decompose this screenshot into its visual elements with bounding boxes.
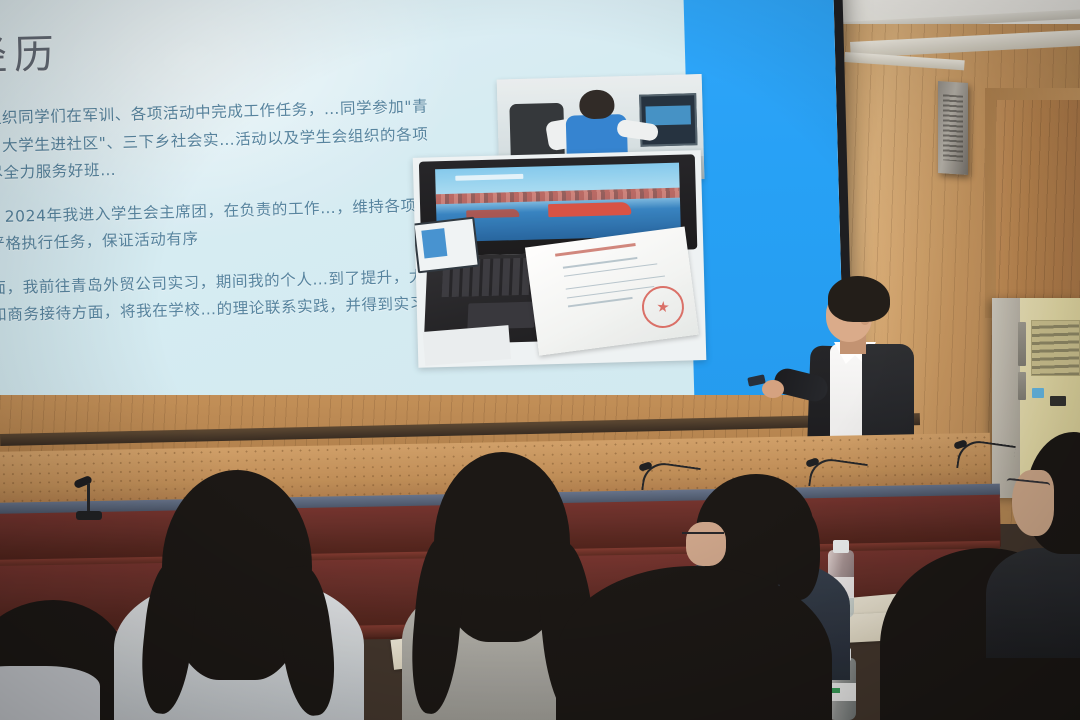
door-panel-texture [996,100,1080,315]
ac-brand-badge [1032,388,1043,398]
slide-paragraph-3: …实践方面，我前往青岛外贸公司实习，期间我的个人…到了提升，尤其是在业务和商务接… [0,263,448,360]
ac-air-vent [1031,320,1080,376]
presentation-slide: 人经历 …方面，组织同学们在军训、各项活动中完成工作任务，…同学参加"青鸟计划"… [0,0,845,445]
audience-clothing [986,548,1080,658]
slide-paragraph-1: …方面，组织同学们在军训、各项活动中完成工作任务，…同学参加"青鸟计划"、"大学… [0,93,443,190]
microphone-base [76,511,102,520]
photo-document-line [566,275,665,290]
photo-harbour-ship-large [548,202,631,217]
presenter-hand [762,380,784,398]
audience-face-profile [686,522,726,566]
audience-member-1 [118,470,368,720]
slide-paragraph-2: …会方面，2024年我进入学生会主席团，在负责的工作…，维持各项活动秩序中严格执… [0,192,445,261]
photo-secondary-paper [422,325,511,365]
photo-office-person-hair [579,89,615,119]
speaker-grill [943,94,962,162]
audience-member-6 [1000,432,1080,642]
photo-document-heading [555,243,635,257]
wall-speaker [938,81,968,175]
screen-surface: 人经历 …方面，组织同学们在军训、各项活动中完成工作任务，…同学参加"青鸟计划"… [0,0,845,445]
lecture-hall-photograph: 人经历 …方面，组织同学们在军训、各项活动中完成工作任务，…同学参加"青鸟计划"… [0,0,1080,720]
projection-screen: 人经历 …方面，组织同学们在军训、各项活动中完成工作任务，…同学参加"青鸟计划"… [0,0,854,458]
photo-harbour-skyline [436,187,679,204]
slide-body-text: …方面，组织同学们在军训、各项活动中完成工作任务，…同学参加"青鸟计划"、"大学… [0,93,448,376]
photo-document-line [569,297,633,307]
audience-hair [556,566,832,720]
desk-microphone-1[interactable] [76,476,102,520]
photo-document-red-stamp [640,284,687,331]
photo-tablet-device [413,217,480,274]
ac-side-vent-lower [1018,372,1026,400]
audience-clothing [0,666,100,720]
ac-display-panel[interactable] [1050,396,1066,406]
microphone-stem [87,483,90,513]
photo-harbour-caption [455,174,523,181]
slide-photo-laptop-document [413,150,707,368]
ac-side-vent-upper [1018,322,1026,366]
photo-stamped-document [525,226,699,355]
audience-member-3 [556,566,846,720]
audience-glasses [682,532,724,542]
door[interactable] [996,100,1080,315]
slide-title: 人经历 [0,21,62,83]
presenter-hair [828,276,890,322]
